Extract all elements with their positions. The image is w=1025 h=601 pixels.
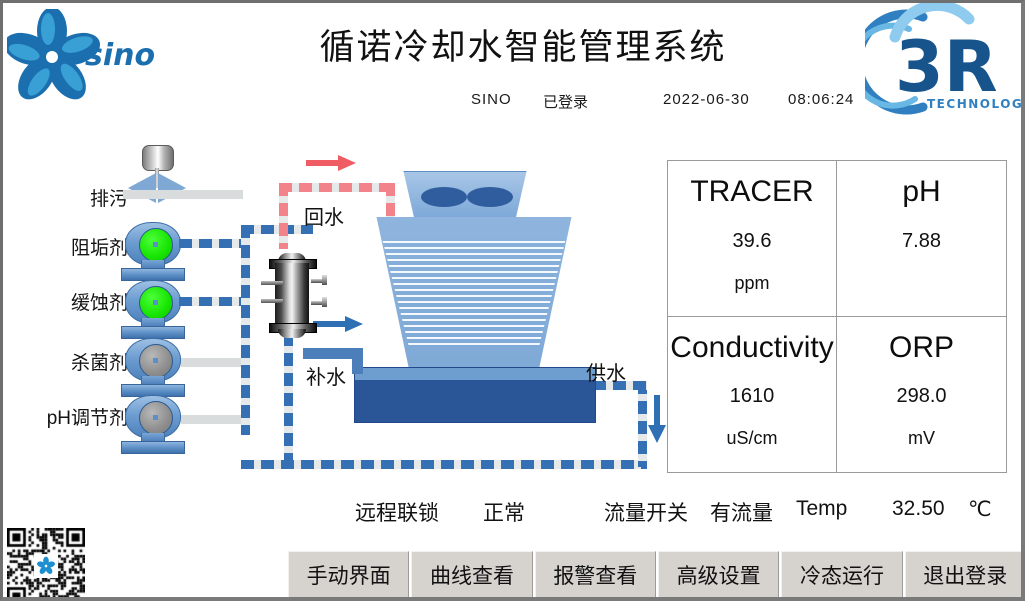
three-r-logo-text: 3R [895, 26, 998, 108]
three-r-logo: 3R TECHNOLOGY [865, 3, 1025, 121]
status-unit-temperature: ℃ [968, 497, 992, 522]
hx-bottom-dome [278, 329, 306, 338]
pipe-chem-header-riser [241, 225, 250, 435]
status-value-temperature: 32.50 [892, 497, 945, 521]
pipe-makeup-stub-v [352, 348, 363, 374]
button-bar: 手动界面 曲线查看 报警查看 高级设置 冷态运行 退出登录 [288, 551, 1025, 599]
tower-basin [354, 367, 596, 423]
chem-label-ph-adjuster: pH调节剂 [3, 403, 128, 430]
button-cold-start-run[interactable]: 冷态运行 [781, 551, 902, 599]
pump-status-lamp [139, 228, 173, 262]
button-alarm-view[interactable]: 报警查看 [535, 551, 656, 599]
measurement-value: 298.0 [896, 385, 946, 408]
status-value-interlock: 正常 [483, 497, 525, 527]
hmi-screen: sino 循诺冷却水智能管理系统 SINO 已登录 2022-06-30 08:… [0, 0, 1025, 601]
pump-status-lamp [139, 401, 173, 435]
measurement-name: TRACER [690, 175, 813, 210]
measurement-cell-conductivity[interactable]: Conductivity 1610 uS/cm [668, 317, 837, 473]
chem-label-biocide: 杀菌剂 [13, 348, 128, 375]
page-title: 循诺冷却水智能管理系统 [243, 19, 803, 70]
button-logout[interactable]: 退出登录 [905, 551, 1025, 599]
hx-nozzle-left-upper [261, 281, 283, 285]
button-manual-screen[interactable]: 手动界面 [288, 551, 409, 599]
measurement-cell-tracer[interactable]: TRACER 39.6 ppm [668, 161, 837, 317]
pipe-return-left-drop [279, 183, 288, 249]
hx-shell [275, 263, 309, 327]
measurement-unit: uS/cm [726, 428, 777, 449]
label-makeup-water: 补水 [306, 361, 346, 390]
status-value-flow-switch: 有流量 [710, 497, 773, 527]
pipe-hx-downcomer [284, 333, 293, 465]
measurement-cell-orp[interactable]: ORP 298.0 mV [837, 317, 1006, 473]
hx-nozzle-left-lower [261, 299, 283, 303]
chem-label-blowdown: 排污 [13, 184, 128, 211]
cooling-tower[interactable] [349, 171, 599, 426]
pipe-supply-riser [638, 381, 647, 467]
pump-status-lamp [139, 286, 173, 320]
status-row: 远程联锁 正常 流量开关 有流量 Temp 32.50 ℃ [355, 497, 1015, 529]
arrow-return-flow-icon [306, 155, 358, 171]
label-supply-water: 供水 [586, 357, 626, 386]
header-user: SINO [471, 91, 512, 108]
pump-base [121, 441, 185, 454]
dosing-pump-ph-adjuster[interactable] [121, 395, 183, 453]
status-label-interlock: 远程联锁 [355, 497, 439, 527]
measurement-panel: TRACER 39.6 ppm pH 7.88 Conductivity 161… [667, 160, 1007, 473]
measurement-value: 7.88 [902, 230, 941, 253]
status-label-temperature: Temp [796, 497, 847, 521]
pipe-blowdown [123, 190, 243, 199]
label-return-water: 回水 [304, 201, 344, 230]
pipe-biocide-feed [181, 358, 243, 367]
status-label-flow-switch: 流量开关 [604, 497, 688, 527]
measurement-value: 1610 [730, 385, 775, 408]
chem-label-antiscalant: 阻垢剂 [13, 233, 128, 260]
qr-code-center-logo [34, 554, 58, 578]
hx-flange-right-lower [322, 297, 327, 307]
three-r-logo-subtext: TECHNOLOGY [927, 97, 1025, 111]
measurement-unit: ppm [734, 273, 769, 294]
sino-logo: sino [7, 9, 167, 107]
qr-code[interactable] [7, 528, 85, 601]
dosing-pump-biocide[interactable] [121, 338, 183, 396]
header-login-state: 已登录 [543, 91, 588, 112]
dosing-pump-inhibitor[interactable] [121, 280, 183, 338]
tower-fan-icon [421, 187, 513, 207]
measurement-cell-ph[interactable]: pH 7.88 [837, 161, 1006, 317]
heat-exchanger-icon[interactable] [265, 253, 319, 338]
header-date: 2022-06-30 [663, 91, 750, 108]
button-trend-view[interactable]: 曲线查看 [411, 551, 532, 599]
measurement-name: Conductivity [670, 331, 833, 366]
pipe-bottom-main [241, 460, 647, 469]
header-time: 08:06:24 [788, 91, 854, 108]
button-advanced-settings[interactable]: 高级设置 [658, 551, 779, 599]
measurement-value: 39.6 [733, 230, 772, 253]
pipe-ph-feed [181, 415, 243, 424]
pipe-chem-header-top [241, 225, 313, 234]
measurement-name: pH [902, 175, 940, 210]
pipe-antiscalant-feed-track [179, 239, 247, 248]
measurement-name: ORP [889, 331, 954, 366]
measurement-unit: mV [908, 428, 935, 449]
header-info-row: SINO 已登录 2022-06-30 08:06:24 [243, 91, 923, 117]
chem-label-inhibitor: 缓蚀剂 [13, 288, 128, 315]
arrow-supply-flow-icon [648, 395, 666, 445]
hx-flange-right-upper [322, 275, 327, 285]
pipe-inhibitor-feed-track [179, 297, 247, 306]
tower-basin-lip [355, 368, 595, 380]
sino-logo-text: sino [85, 38, 155, 73]
pump-status-lamp [139, 344, 173, 378]
dosing-pump-antiscalant[interactable] [121, 222, 183, 280]
